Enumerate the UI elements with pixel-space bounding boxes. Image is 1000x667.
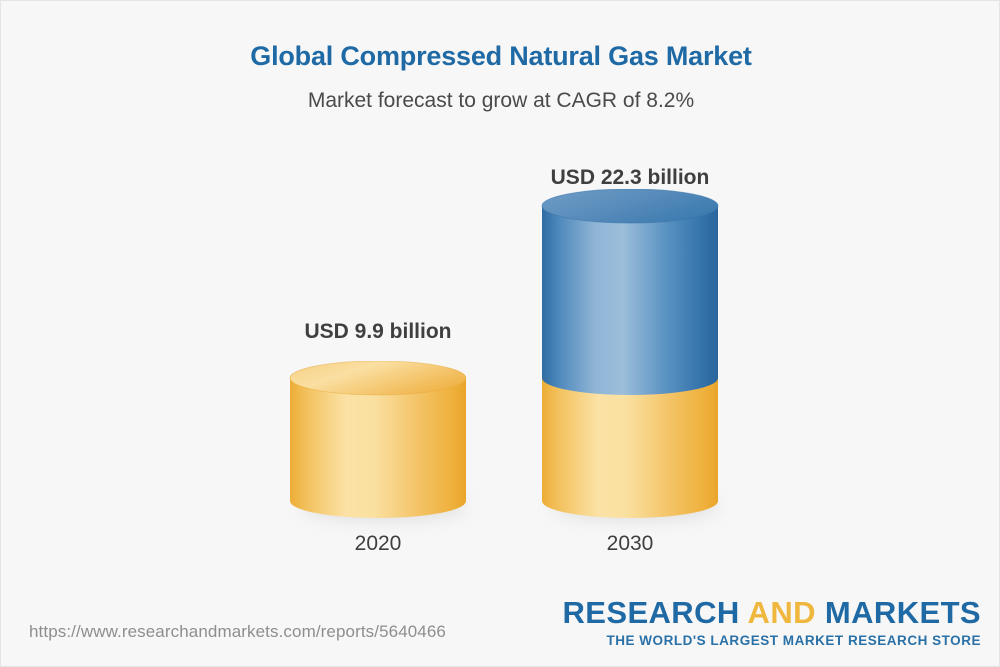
- bar-category-label-2020: 2020: [290, 532, 466, 556]
- chart-plot-area: USD 9.9 billion 2020: [1, 1, 1000, 601]
- logo-tagline: THE WORLD'S LARGEST MARKET RESEARCH STOR…: [563, 634, 982, 648]
- bar-cylinder-2030: [1, 189, 1000, 534]
- research-and-markets-logo[interactable]: RESEARCH AND MARKETS THE WORLD'S LARGEST…: [563, 597, 982, 648]
- report-url[interactable]: https://www.researchandmarkets.com/repor…: [29, 622, 446, 642]
- logo-research-text: RESEARCH: [563, 595, 748, 630]
- infographic-card: Global Compressed Natural Gas Market Mar…: [0, 0, 1000, 667]
- bar-value-label-2030: USD 22.3 billion: [542, 166, 718, 190]
- logo-and-text: AND: [748, 595, 816, 630]
- bar-category-label-2030: 2030: [542, 532, 718, 556]
- logo-markets-text: MARKETS: [816, 595, 981, 630]
- logo-wordmark: RESEARCH AND MARKETS: [563, 597, 982, 628]
